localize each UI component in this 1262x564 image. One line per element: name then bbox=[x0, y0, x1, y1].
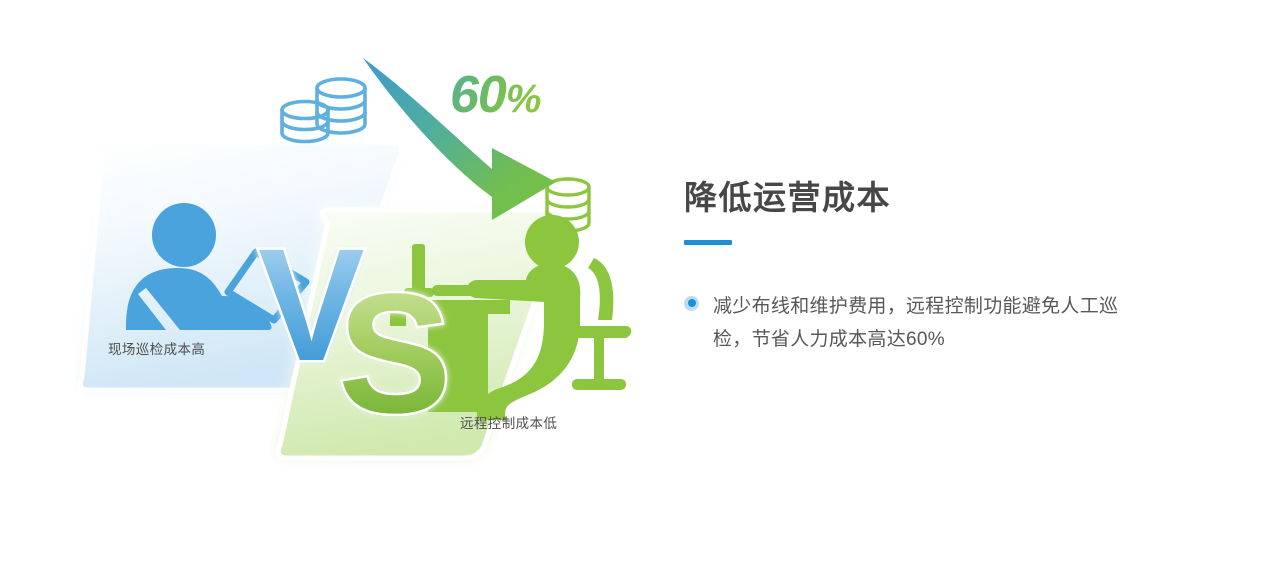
page-root: 60% bbox=[0, 0, 1262, 564]
coin-stack-icon-blue bbox=[282, 79, 365, 142]
illustration-svg: 60% bbox=[60, 30, 660, 520]
content-block: 降低运营成本 减少布线和维护费用，远程控制功能避免人工巡检，节省人力成本高达60… bbox=[684, 178, 1154, 356]
page-title: 降低运营成本 bbox=[684, 178, 1154, 218]
right-panel-caption: 远程控制成本低 bbox=[460, 412, 557, 432]
cost-comparison-illustration: 60% bbox=[60, 30, 660, 520]
bullet-text: 减少布线和维护费用，远程控制功能避免人工巡检，节省人力成本高达60% bbox=[713, 290, 1133, 357]
vs-letter-s: S bbox=[338, 259, 451, 449]
savings-percentage-label: 60% bbox=[450, 66, 541, 124]
left-panel-caption: 现场巡检成本高 bbox=[108, 338, 205, 358]
bullet-dot-icon bbox=[684, 296, 699, 311]
list-item: 减少布线和维护费用，远程控制功能避免人工巡检，节省人力成本高达60% bbox=[684, 290, 1154, 357]
title-underline-rule bbox=[684, 240, 732, 245]
feature-bullet-list: 减少布线和维护费用，远程控制功能避免人工巡检，节省人力成本高达60% bbox=[684, 290, 1154, 357]
